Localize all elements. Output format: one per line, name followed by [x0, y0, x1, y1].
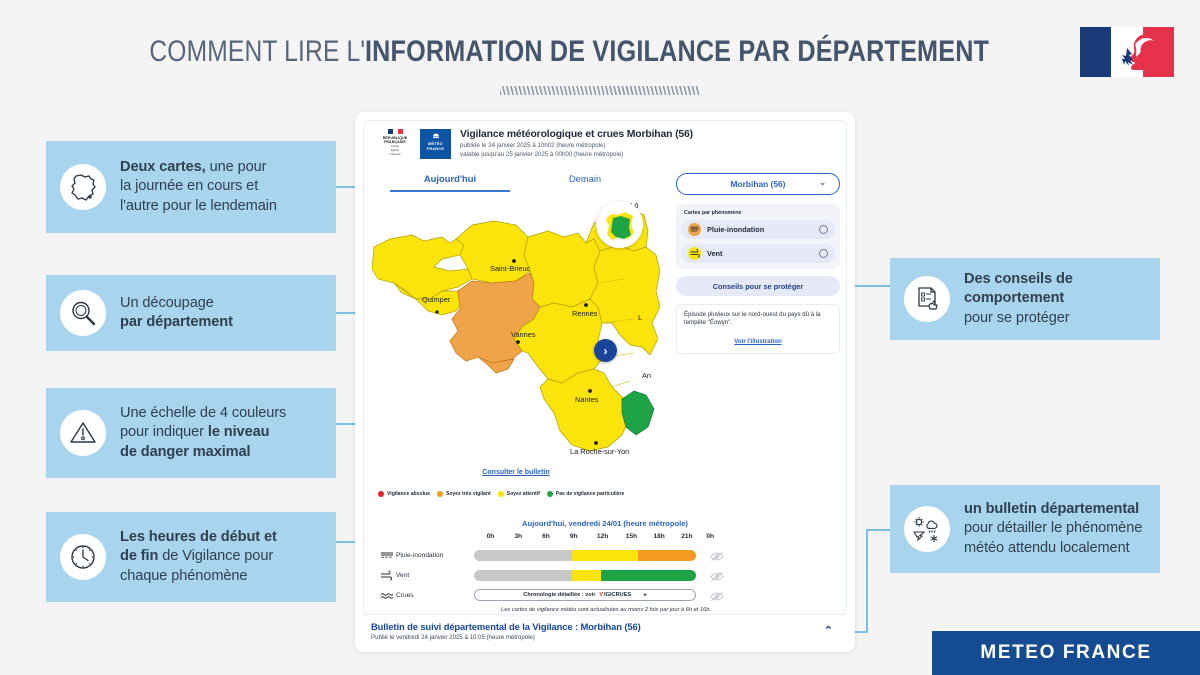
- phenomena-panel: Cartes par phénomène Pluie-inondation: [676, 204, 840, 269]
- day-tabs: Aujourd'hui Demain: [390, 173, 640, 195]
- phenomenon-radio[interactable]: [819, 249, 828, 258]
- phenomenon-radio[interactable]: [819, 225, 828, 234]
- annotation-text: un bulletin départementalpour détailler …: [964, 500, 1142, 559]
- page-title-bold: INFORMATION DE VIGILANCE PAR DÉPARTEMENT: [365, 35, 989, 69]
- timeline-bar[interactable]: [474, 550, 696, 561]
- rain-flood-icon: [688, 223, 701, 236]
- bulletin-subtitle: Publié le vendredi 24 janvier 2025 à 10:…: [371, 634, 837, 641]
- timeline-row-name: Crues: [396, 592, 474, 599]
- phenomena-panel-label: Cartes par phénomène: [684, 210, 835, 216]
- annotation-two-maps: Deux cartes, une pourla journée en cours…: [46, 141, 336, 233]
- bar-segment-yellow: [572, 570, 601, 581]
- connector-bulletin-v: [866, 529, 868, 632]
- warning-triangle-icon: [60, 410, 106, 456]
- legend-item: Soyez attentif: [498, 491, 540, 497]
- map-city-label: Quimper: [422, 295, 451, 304]
- legend-swatch-red: [378, 491, 384, 497]
- tab-today[interactable]: Aujourd'hui: [390, 173, 510, 184]
- map-city-label: Nantes: [575, 395, 599, 404]
- eye-off-icon[interactable]: [710, 589, 724, 601]
- annotation-start-end-hours: Les heures de début etde fin de Vigilanc…: [46, 512, 336, 602]
- marianne-silhouette-icon: [1115, 32, 1171, 72]
- phenomenon-name: Pluie-inondation: [707, 225, 819, 234]
- chrono-arrow-icon: ▸: [644, 592, 647, 598]
- legend-item: Vigilance absolue: [378, 491, 430, 497]
- flood-wave-icon: [380, 589, 396, 601]
- magnifying-glass-icon: [60, 290, 106, 336]
- map-next-chevron-icon[interactable]: ›: [594, 339, 617, 362]
- annotation-color-scale: Une échelle de 4 couleurspour indiquer l…: [46, 388, 336, 478]
- app-title-block: Vigilance météorologique et crues Morbih…: [460, 129, 840, 160]
- legend-label: Vigilance absolue: [387, 491, 430, 497]
- app-header: RÉPUBLIQUE FRANÇAISE LibertéÉgalitéFrate…: [364, 121, 846, 165]
- bar-segment-grey: [474, 570, 572, 581]
- bulletin-title: Bulletin de suivi départemental de la Vi…: [371, 621, 837, 632]
- flag-blue-band: [1080, 27, 1111, 77]
- vigilance-map[interactable]: Saint-Brieuc Quimper Rennes Vannes Nante…: [372, 195, 660, 485]
- chevron-up-icon[interactable]: ⌃: [824, 624, 833, 637]
- phenomenon-name: Vent: [707, 249, 819, 258]
- legend-swatch-orange: [437, 491, 443, 497]
- morbihan-inset-map-icon[interactable]: [596, 201, 643, 248]
- rain-flood-icon: [380, 549, 396, 561]
- app-valid-until: valable jusqu'au 25 janvier 2025 à 00h00…: [460, 151, 840, 159]
- hour-tick: 3h: [514, 533, 522, 540]
- legend-label: Soyez très vigilant: [446, 491, 491, 497]
- department-select-value: Morbihan (56): [731, 179, 786, 189]
- bar-segment-green: [601, 570, 696, 581]
- hour-tick: 0h: [706, 533, 714, 540]
- episode-text: Épisode pluvieux sur le nord-ouest du pa…: [684, 311, 832, 327]
- rf-logo-title: RÉPUBLIQUE FRANÇAISE: [376, 136, 414, 144]
- france-map-outline-icon: [60, 164, 106, 210]
- weather-symbols-icon: [904, 506, 950, 552]
- legend-item: Soyez très vigilant: [437, 491, 491, 497]
- meteo-france-logo-text: MÉTÉOFRANCE: [427, 141, 444, 151]
- page-title-light: COMMENT LIRE L': [149, 35, 365, 69]
- phenomena-timeline: Aujourd'hui, vendredi 24/01 (heure métro…: [364, 519, 846, 528]
- app-title: Vigilance météorologique et crues Morbih…: [460, 129, 840, 140]
- view-illustration-link[interactable]: Voir l'illustration: [684, 338, 832, 345]
- tab-active-underline: [390, 190, 510, 192]
- timeline-row-name: Pluie-inondation: [396, 552, 474, 559]
- phenomenon-option-wind[interactable]: Vent: [681, 244, 835, 263]
- phenomenon-option-rain-flood[interactable]: Pluie-inondation: [681, 220, 835, 239]
- annotation-behaviour-advice: Des conseils decomportementpour se proté…: [890, 258, 1160, 340]
- page-title: COMMENT LIRE L' INFORMATION DE VIGILANCE…: [196, 30, 1014, 74]
- annotation-text: Des conseils decomportementpour se proté…: [964, 270, 1073, 329]
- app-published: publiée le 24 janvier 2025 à 10h02 (heur…: [460, 142, 840, 150]
- map-city-label: Vannes: [511, 330, 536, 339]
- hour-tick: 18h: [653, 533, 664, 540]
- episode-summary-box: Épisode pluvieux sur le nord-ouest du pa…: [676, 304, 840, 354]
- map-color-legend: Vigilance absolue Soyez très vigilant So…: [378, 487, 668, 501]
- clock-icon: [60, 534, 106, 580]
- legend-label: Pas de vigilance particulière: [556, 491, 625, 497]
- chrono-label: Chronologie détaillée : voir: [523, 592, 595, 598]
- annotation-text: Une échelle de 4 couleurspour indiquer l…: [120, 404, 286, 463]
- legend-label: Soyez attentif: [507, 491, 540, 497]
- flag-white-band: [1111, 27, 1142, 77]
- app-viewport: RÉPUBLIQUE FRANÇAISE LibertéÉgalitéFrate…: [363, 120, 847, 615]
- side-panel: Morbihan (56) ⌄ Cartes par phénomène Plu…: [676, 173, 840, 354]
- eye-off-icon[interactable]: [710, 569, 724, 581]
- map-city-label: Rennes: [572, 309, 598, 318]
- bulletin-footer-bar[interactable]: Bulletin de suivi départemental de la Vi…: [363, 614, 847, 644]
- connector-bulletin-h1: [866, 529, 890, 531]
- map-city-label: L: [638, 313, 642, 322]
- bar-segment-yellow: [572, 550, 639, 561]
- tricolor-flag-icon: [388, 129, 403, 134]
- annotation-text: Deux cartes, une pourla journée en cours…: [120, 158, 277, 217]
- vigicrues-brand-text: IGICRUES: [604, 592, 631, 598]
- timeline-hour-axis: 0h 3h 6h 9h 12h 15h 18h 21h 0h: [486, 533, 708, 544]
- legend-swatch-green: [547, 491, 553, 497]
- wind-icon: [688, 247, 701, 260]
- crues-chronology-button[interactable]: Chronologie détaillée : voir V IGICRUES …: [474, 589, 696, 601]
- meteo-france-mark-icon: [431, 132, 440, 141]
- annotation-text: Les heures de début etde fin de Vigilanc…: [120, 528, 277, 587]
- legend-swatch-yellow: [498, 491, 504, 497]
- eye-off-icon[interactable]: [710, 549, 724, 561]
- map-city-label: An: [642, 371, 651, 380]
- protection-advice-button[interactable]: Conseils pour se protéger: [676, 276, 840, 296]
- map-city-label: La Roche-sur-Yon: [570, 447, 629, 456]
- hour-tick: 15h: [626, 533, 637, 540]
- annotation-departmental-bulletin: un bulletin départementalpour détailler …: [890, 485, 1160, 573]
- timeline-note: Les cartes de vigilance météo sont actua…: [380, 607, 832, 613]
- bar-segment-grey: [474, 550, 572, 561]
- tab-tomorrow[interactable]: Demain: [535, 173, 635, 184]
- hour-tick: 0h: [487, 533, 495, 540]
- timeline-title: Aujourd'hui, vendredi 24/01 (heure métro…: [364, 519, 846, 528]
- map-city-label: Saint-Brieuc: [490, 264, 531, 273]
- timeline-row-rain-flood: Pluie-inondation: [380, 547, 832, 563]
- wind-icon: [380, 569, 396, 581]
- rf-logo-motto: LibertéÉgalitéFraternité: [376, 145, 414, 158]
- consult-bulletin-link[interactable]: Consulter le bulletin: [372, 469, 660, 476]
- french-republic-flag-icon: [1080, 27, 1174, 77]
- department-select[interactable]: Morbihan (56) ⌄: [676, 173, 840, 195]
- hatch-divider: [500, 86, 700, 95]
- vigicrues-brand-v: V: [599, 592, 603, 598]
- legend-item: Pas de vigilance particulière: [547, 491, 625, 497]
- annotation-department-split: Un découpagepar département: [46, 275, 336, 351]
- timeline-row-wind: Vent: [380, 567, 832, 583]
- meteo-france-brand-footer: METEO FRANCE: [932, 631, 1200, 675]
- inset-map-svg: [600, 205, 640, 245]
- timeline-row-name: Vent: [396, 572, 474, 579]
- timeline-bar[interactable]: [474, 570, 696, 581]
- meteo-france-logo: MÉTÉOFRANCE: [420, 129, 451, 159]
- timeline-row-crues: Crues Chronologie détaillée : voir V IGI…: [380, 587, 832, 603]
- hour-tick: 9h: [570, 533, 578, 540]
- annotation-text: Un découpagepar département: [120, 294, 233, 333]
- hour-tick: 6h: [542, 533, 550, 540]
- hour-tick: 12h: [597, 533, 608, 540]
- vigilance-app-card: RÉPUBLIQUE FRANÇAISE LibertéÉgalitéFrate…: [355, 112, 855, 652]
- hour-tick: 21h: [681, 533, 692, 540]
- bar-segment-orange: [638, 550, 696, 561]
- republique-francaise-logo: RÉPUBLIQUE FRANÇAISE LibertéÉgalitéFrate…: [376, 129, 414, 159]
- chevron-down-icon: ⌄: [819, 178, 826, 187]
- checklist-document-icon: [904, 276, 950, 322]
